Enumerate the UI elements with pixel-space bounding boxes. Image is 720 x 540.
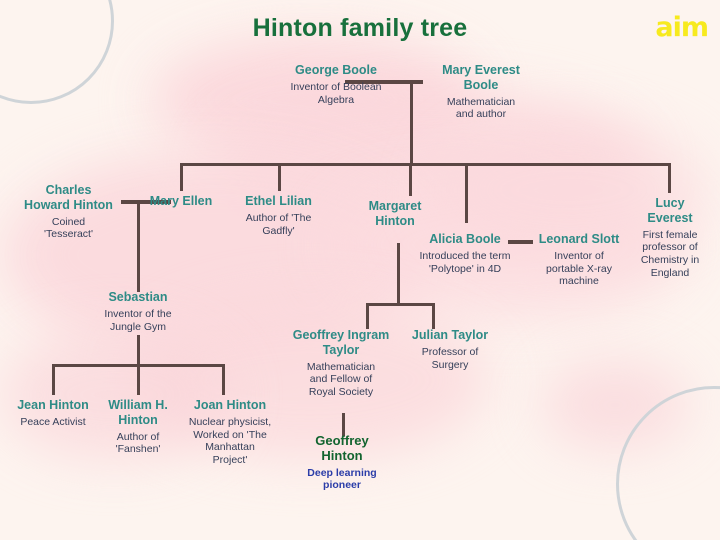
aim-logo: aim — [655, 14, 708, 41]
node-sebastian[interactable]: Sebastian Inventor of the Jungle Gym — [78, 290, 198, 333]
node-description: Deep learning pioneer — [289, 467, 395, 493]
background-blob — [540, 360, 690, 450]
node-description: First female professor of Chemistry in E… — [628, 229, 712, 280]
node-name: Mary Everest Boole — [420, 63, 542, 93]
connector-margaret-bus — [366, 303, 435, 306]
node-name: Julian Taylor — [404, 328, 496, 343]
node-description: Professor of Surgery — [404, 346, 496, 372]
connector-sebastian-descent — [137, 335, 140, 366]
node-george-boole[interactable]: George Boole Inventor of Boolean Algebra — [262, 63, 410, 106]
node-mary-ellen[interactable]: Mary Ellen — [140, 194, 222, 209]
connector-drop-william — [137, 364, 140, 395]
node-description: Mathematician and Fellow of Royal Societ… — [277, 361, 405, 399]
node-lucy-everest[interactable]: Lucy Everest First female professor of C… — [628, 196, 712, 280]
node-description: Author of 'Fanshen' — [99, 431, 177, 457]
connector-boole-descent — [410, 80, 413, 165]
node-name: Lucy Everest — [628, 196, 712, 226]
page-title: Hinton family tree — [0, 14, 720, 43]
connector-drop-margaret — [409, 163, 412, 196]
connector-drop-jean — [52, 364, 55, 395]
connector-drop-mary-ellen — [180, 163, 183, 191]
family-tree-canvas: Hinton family tree aim George Boole Inve… — [0, 0, 720, 540]
node-charles-howard-hinton[interactable]: Charles Howard Hinton Coined 'Tesseract' — [6, 183, 131, 241]
node-description: Inventor of portable X-ray machine — [531, 250, 627, 288]
connector-drop-joan — [222, 364, 225, 395]
node-name: Ethel Lilian — [231, 194, 326, 209]
node-ethel-lilian[interactable]: Ethel Lilian Author of 'The Gadfly' — [231, 194, 326, 237]
node-name: William H. Hinton — [99, 398, 177, 428]
connector-sibling-bus — [180, 163, 671, 166]
connector-drop-julian — [432, 303, 435, 329]
node-name: Geoffrey Ingram Taylor — [277, 328, 405, 358]
node-jean-hinton[interactable]: Jean Hinton Peace Activist — [5, 398, 101, 429]
decorative-circle-bottom-right — [616, 386, 720, 540]
node-name: Alicia Boole — [404, 232, 526, 247]
node-julian-taylor[interactable]: Julian Taylor Professor of Surgery — [404, 328, 496, 371]
node-name: Geoffrey Hinton — [289, 433, 395, 464]
node-joan-hinton[interactable]: Joan Hinton Nuclear physicist, Worked on… — [177, 398, 283, 467]
connector-margaret-descent — [397, 243, 400, 305]
node-description: Author of 'The Gadfly' — [231, 212, 326, 238]
connector-drop-alicia — [465, 163, 468, 223]
node-description: Peace Activist — [5, 416, 101, 429]
node-description: Nuclear physicist, Worked on 'The Manhat… — [177, 416, 283, 467]
connector-drop-geoffrey-ingram — [366, 303, 369, 329]
node-description: Inventor of Boolean Algebra — [262, 81, 410, 107]
node-name: Charles Howard Hinton — [6, 183, 131, 213]
connector-drop-ethel-lilian — [278, 163, 281, 191]
node-name: George Boole — [262, 63, 410, 78]
node-description: Coined 'Tesseract' — [6, 216, 131, 242]
logo-text: aim — [655, 14, 708, 41]
node-margaret-hinton[interactable]: Margaret Hinton — [350, 199, 440, 229]
connector-drop-lucy — [668, 163, 671, 193]
node-mary-everest-boole[interactable]: Mary Everest Boole Mathematician and aut… — [420, 63, 542, 121]
node-alicia-boole[interactable]: Alicia Boole Introduced the term 'Polyto… — [404, 232, 526, 275]
node-name: Joan Hinton — [177, 398, 283, 413]
node-william-h-hinton[interactable]: William H. Hinton Author of 'Fanshen' — [99, 398, 177, 456]
node-name: Mary Ellen — [140, 194, 222, 209]
node-name: Leonard Slott — [531, 232, 627, 247]
connector-hinton-descent — [137, 200, 140, 292]
node-geoffrey-hinton[interactable]: Geoffrey Hinton Deep learning pioneer — [289, 433, 395, 492]
node-description: Mathematician and author — [420, 96, 542, 122]
node-leonard-slott[interactable]: Leonard Slott Inventor of portable X-ray… — [531, 232, 627, 288]
node-name: Jean Hinton — [5, 398, 101, 413]
node-name: Sebastian — [78, 290, 198, 305]
node-geoffrey-ingram-taylor[interactable]: Geoffrey Ingram Taylor Mathematician and… — [277, 328, 405, 399]
node-description: Introduced the term 'Polytope' in 4D — [404, 250, 526, 276]
node-description: Inventor of the Jungle Gym — [78, 308, 198, 334]
node-name: Margaret Hinton — [350, 199, 440, 229]
